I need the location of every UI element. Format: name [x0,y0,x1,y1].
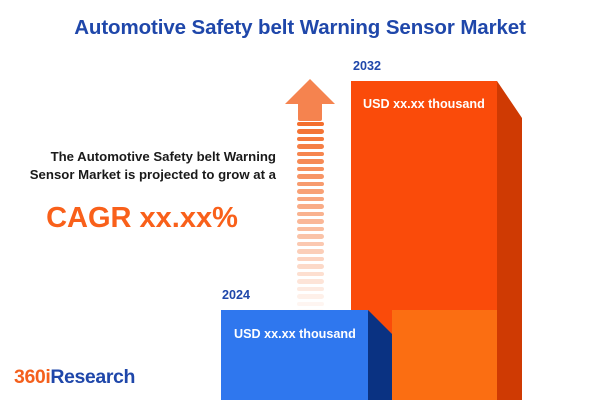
arrow-head-icon [284,78,336,122]
arrow-rung [297,257,324,261]
arrow-rung [297,234,324,238]
arrow-rung [297,129,324,133]
arrow-rung [297,287,324,291]
arrow-rung [297,122,324,126]
logo-text-360i: 360i [14,366,50,388]
arrow-rung [297,302,324,306]
page-title: Automotive Safety belt Warning Sensor Ma… [0,16,600,40]
cagr-value: CAGR xx.xx% [8,202,276,235]
arrow-rung [297,137,324,141]
arrow-rung [297,219,324,223]
bar-2024-value-label: USD xx.xx thousand [234,327,356,341]
bar-2032-value-label: USD xx.xx thousand [363,97,485,111]
arrow-rung [297,249,324,253]
arrow-shaft-rungs [297,122,324,290]
arrow-rung [297,212,324,216]
logo-text-research: Research [50,366,135,388]
bar-2024 [221,310,368,400]
arrow-rung [297,159,324,163]
arrow-rung [297,182,324,186]
market-statement-text: The Automotive Safety belt Warning Senso… [8,148,276,184]
bar-2024-side-face [368,310,392,400]
arrow-rung [297,144,324,148]
growth-arrow-icon [284,78,336,290]
arrow-rung [297,227,324,231]
arrow-rung [297,294,324,298]
arrow-rung [297,174,324,178]
arrow-rung [297,167,324,171]
arrow-rung [297,189,324,193]
arrow-rung [297,204,324,208]
arrow-rung [297,264,324,268]
arrow-rung [297,152,324,156]
bar-2032-shadow-region [392,310,497,400]
year-label-2032: 2032 [353,59,381,73]
bar-2032-side-face [497,81,522,400]
arrow-rung [297,272,324,276]
arrow-rung [297,242,324,246]
year-label-2024: 2024 [222,288,250,302]
brand-logo[interactable]: 360iResearch [14,366,135,389]
arrow-rung [297,197,324,201]
arrow-rung [297,279,324,283]
infographic-canvas: Automotive Safety belt Warning Sensor Ma… [0,0,600,400]
